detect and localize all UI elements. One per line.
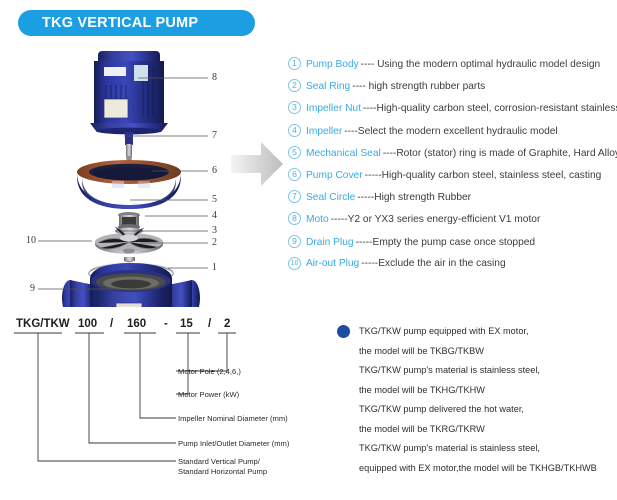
legend-number-8: 8 bbox=[288, 212, 301, 225]
legend-number-7: 7 bbox=[288, 190, 301, 203]
legend-name-7: Seal Circle bbox=[306, 192, 355, 203]
callout-4: 4 bbox=[212, 210, 217, 221]
legend-name-9: Drain Plug bbox=[306, 237, 354, 248]
legend-item: 9 Drain Plug -----Empty the pump case on… bbox=[288, 236, 616, 258]
legend-number-10: 10 bbox=[288, 257, 301, 270]
callout-2: 2 bbox=[212, 237, 217, 248]
callout-3: 3 bbox=[212, 225, 217, 236]
impeller-nut-part bbox=[124, 257, 136, 262]
legend-desc-8: -----Y2 or YX3 series energy-efficient V… bbox=[331, 214, 541, 225]
blue-dot-icon bbox=[337, 325, 350, 338]
page-title: TKG VERTICAL PUMP bbox=[18, 15, 198, 31]
legend-item: 2 Seal Ring ---- high strength rubber pa… bbox=[288, 80, 616, 102]
code-separator-3: / bbox=[208, 318, 211, 330]
callout-7: 7 bbox=[212, 130, 217, 141]
note-line: TKG/TKW pump equipped with EX motor, bbox=[337, 322, 617, 342]
label-standard-horizontal: Standard Horizontal Pump bbox=[178, 467, 267, 476]
legend-name-1: Pump Body bbox=[306, 59, 359, 70]
legend-number-3: 3 bbox=[288, 101, 301, 114]
legend-number-5: 5 bbox=[288, 146, 301, 159]
note-line: the model will be TKHG/TKHW bbox=[337, 381, 617, 401]
legend-desc-1: ---- Using the modern optimal hydraulic … bbox=[361, 59, 601, 70]
callout-5: 5 bbox=[212, 194, 217, 205]
note-line: TKG/TKW pump's material is stainless ste… bbox=[337, 439, 617, 459]
legend-name-8: Moto bbox=[306, 214, 329, 225]
legend-number-9: 9 bbox=[288, 235, 301, 248]
label-motor-power: Motor Power (kW) bbox=[178, 390, 239, 399]
legend-item: 4 Impeller ----Select the modern excelle… bbox=[288, 125, 616, 147]
legend-item: 5 Mechanical Seal ----Rotor (stator) rin… bbox=[288, 147, 616, 169]
legend-desc-7: -----High strength Rubber bbox=[357, 192, 471, 203]
callout-6: 6 bbox=[212, 165, 217, 176]
code-segment-series: TKG/TKW bbox=[16, 318, 70, 330]
legend-item: 6 Pump Cover -----High-quality carbon st… bbox=[288, 169, 616, 191]
legend-desc-9: -----Empty the pump case once stopped bbox=[356, 237, 536, 248]
legend-item: 8 Moto -----Y2 or YX3 series energy-effi… bbox=[288, 213, 616, 235]
code-segment-impeller: 160 bbox=[127, 318, 146, 330]
legend-number-6: 6 bbox=[288, 168, 301, 181]
code-segment-pole: 2 bbox=[224, 318, 230, 330]
legend-desc-10: -----Exclude the air in the casing bbox=[361, 258, 505, 269]
callout-8: 8 bbox=[212, 72, 217, 83]
legend-name-10: Air-out Plug bbox=[306, 258, 359, 269]
pump-cover-part bbox=[77, 160, 181, 209]
page-title-banner: TKG VERTICAL PUMP bbox=[18, 10, 255, 36]
callout-1: 1 bbox=[212, 262, 217, 273]
label-standard-vertical: Standard Vertical Pump/ bbox=[178, 457, 260, 466]
code-separator-1: / bbox=[110, 318, 113, 330]
code-segment-power: 15 bbox=[180, 318, 193, 330]
legend-item: 10 Air-out Plug -----Exclude the air in … bbox=[288, 258, 616, 280]
note-line: the model will be TKBG/TKBW bbox=[337, 342, 617, 362]
model-variant-notes: TKG/TKW pump equipped with EX motor, the… bbox=[337, 322, 617, 478]
code-separator-2: - bbox=[164, 318, 168, 330]
pump-body-part bbox=[62, 263, 200, 307]
legend-number-1: 1 bbox=[288, 57, 301, 70]
note-line: TKG/TKW pump delivered the hot water, bbox=[337, 400, 617, 420]
legend-name-3: Impeller Nut bbox=[306, 103, 361, 114]
legend-desc-2: ---- high strength rubber parts bbox=[352, 81, 485, 92]
note-line: the model will be TKRG/TKRW bbox=[337, 420, 617, 440]
motor-part bbox=[90, 51, 168, 134]
legend-name-5: Mechanical Seal bbox=[306, 148, 381, 159]
callout-9: 9 bbox=[30, 283, 35, 294]
label-motor-pole: Motor Pole (2,4,6,) bbox=[178, 367, 241, 376]
legend-name-2: Seal Ring bbox=[306, 81, 350, 92]
label-inlet-outlet-diameter: Pump Inlet/Outlet Diameter (mm) bbox=[178, 439, 289, 448]
product-diagram-page: TKG VERTICAL PUMP bbox=[0, 0, 617, 500]
pump-exploded-illustration bbox=[20, 45, 260, 307]
model-nomenclature-diagram bbox=[0, 312, 330, 500]
legend-desc-5: ----Rotor (stator) ring is made of Graph… bbox=[383, 148, 617, 159]
parts-legend-list: 1 Pump Body ---- Using the modern optima… bbox=[288, 58, 616, 280]
note-line: TKG/TKW pump's material is stainless ste… bbox=[337, 361, 617, 381]
code-segment-inlet: 100 bbox=[78, 318, 97, 330]
right-arrow-icon bbox=[231, 140, 283, 188]
callout-10: 10 bbox=[26, 235, 36, 246]
legend-desc-3: ----High-quality carbon steel, corrosion… bbox=[363, 103, 617, 114]
label-impeller-diameter: Impeller Nominal Diameter (mm) bbox=[178, 414, 288, 423]
note-line: equipped with EX motor,the model will be… bbox=[337, 459, 617, 479]
legend-item: 7 Seal Circle -----High strength Rubber bbox=[288, 191, 616, 213]
legend-desc-4: ----Select the modern excellent hydrauli… bbox=[344, 126, 557, 137]
legend-desc-6: -----High-quality carbon steel, stainles… bbox=[365, 170, 602, 181]
legend-name-6: Pump Cover bbox=[306, 170, 363, 181]
legend-name-4: Impeller bbox=[306, 126, 342, 137]
legend-number-2: 2 bbox=[288, 79, 301, 92]
legend-item: 1 Pump Body ---- Using the modern optima… bbox=[288, 58, 616, 80]
legend-item: 3 Impeller Nut ----High-quality carbon s… bbox=[288, 102, 616, 124]
legend-number-4: 4 bbox=[288, 124, 301, 137]
